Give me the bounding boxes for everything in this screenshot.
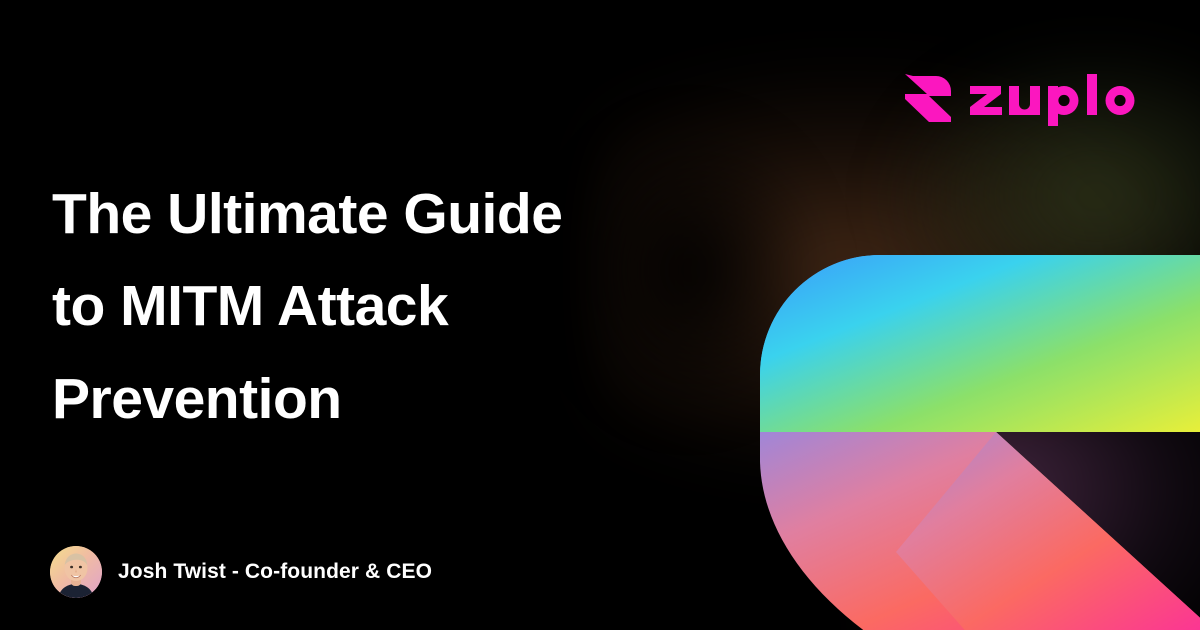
byline: Josh Twist - Co-founder & CEO [50,546,432,598]
zuplo-z-logo-icon [899,72,951,126]
giant-gradient-z-mark-icon [700,200,1200,630]
author-avatar [50,546,102,598]
brand-lockup [899,72,1138,126]
zuplo-wordmark [968,72,1138,126]
social-share-card: The Ultimate Guide to MITM Attack Preven… [0,0,1200,630]
page-title: The Ultimate Guide to MITM Attack Preven… [52,168,652,445]
byline-text: Josh Twist - Co-founder & CEO [118,560,432,584]
